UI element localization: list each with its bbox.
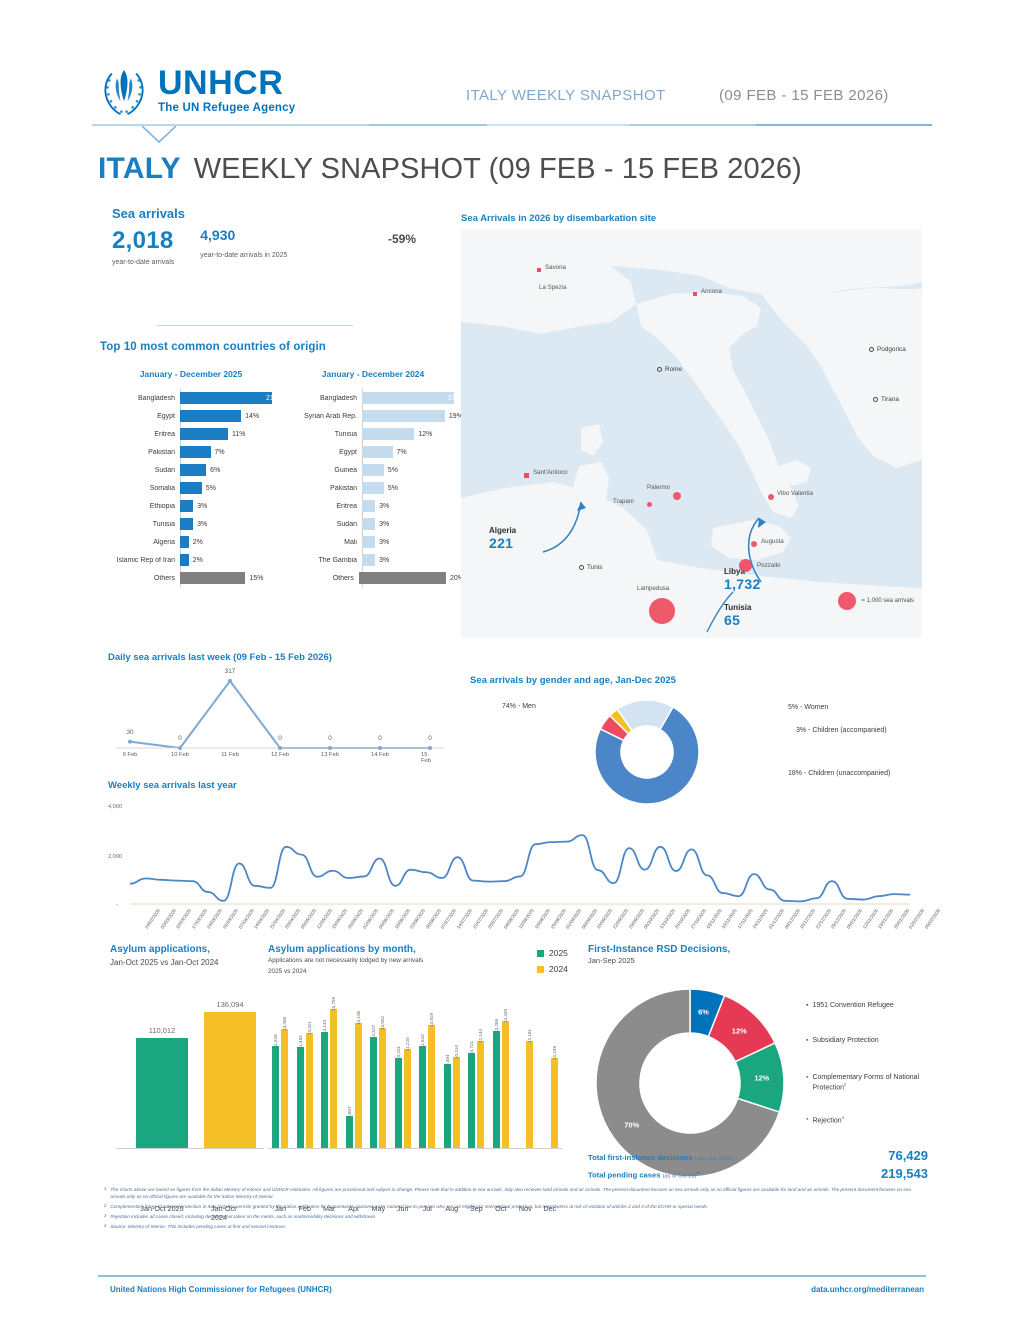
- origin-bar-value: 7%: [397, 449, 407, 456]
- legend-swatch-2024-icon: [537, 966, 544, 973]
- asylum-month-bar: [379, 1028, 386, 1148]
- total-decisions-value: 76,429: [888, 1148, 928, 1163]
- rsd-slice-percent: 70%: [624, 1121, 639, 1130]
- origin-bar-fill: [359, 572, 446, 584]
- map-site-marker-vibo-valentia[interactable]: [768, 494, 774, 500]
- footnotes: 1The charts above are based on figures f…: [104, 1186, 926, 1233]
- origin-bar-track: 3%: [180, 515, 282, 533]
- rsd-totals: Total first-instance decisions (Jan-Sep …: [588, 1148, 928, 1184]
- origin-bar-value: 5%: [388, 467, 398, 474]
- map-city-rome: Rome: [657, 366, 682, 373]
- origin-bar-track: 14%: [180, 407, 282, 425]
- asylum-month-bar: [502, 1021, 509, 1148]
- rsd-decisions-chart: First-Instance RSD Decisions, Jan-Sep 20…: [588, 944, 928, 1165]
- prev-year-arrivals: 4,930 year-to-date arrivals in 2025: [200, 227, 287, 266]
- origin-bar-row: Islamic Rep of Iran2%: [100, 551, 282, 569]
- origin-bar-fill: [362, 428, 414, 440]
- origin-bar-label: Somalia: [100, 485, 180, 492]
- asylum-month-bar: [346, 1116, 353, 1148]
- ytd-arrivals: 2,018 year-to-date arrivals: [112, 227, 174, 266]
- origin-bar-row: Eritrea3%: [282, 497, 464, 515]
- map-city-tunis: Tunis: [579, 564, 602, 571]
- origin-bar-row: Pakistan7%: [100, 443, 282, 461]
- page-title-country: ITALY: [98, 152, 181, 186]
- origin-bar-row: Mali3%: [282, 533, 464, 551]
- origin-bar-fill: [362, 464, 384, 476]
- page-title: ITALY WEEKLY SNAPSHOT (09 FEB - 15 FEB 2…: [98, 152, 802, 186]
- origin-bar-row: Guinea5%: [282, 461, 464, 479]
- gender-children-accompanied-label: 3% - Children (accompanied): [796, 727, 887, 734]
- map-site-marker-savona[interactable]: [537, 268, 541, 272]
- origin-bar-track: 7%: [362, 443, 464, 461]
- origin-bar-value: 3%: [379, 503, 389, 510]
- map-city-tirana-label: Tirana: [881, 396, 899, 403]
- asylum-month-bar: [453, 1057, 460, 1148]
- rsd-legend: ▪ 1951 Convention Refugee ▪ Subsidiary P…: [806, 1001, 936, 1125]
- asylum-monthly-chart: Asylum applications by month, Applicatio…: [268, 944, 568, 976]
- asylum-month-bar: [428, 1025, 435, 1148]
- map-city-podgorica-label: Podgorica: [877, 346, 906, 353]
- origin-bar-fill: [180, 392, 272, 404]
- asylum-month-bar: [297, 1047, 304, 1148]
- origin-bar-row: The Gambia3%: [282, 551, 464, 569]
- origin-bar-track: 3%: [362, 497, 464, 515]
- city-dot-icon: [869, 347, 874, 352]
- origin-bar-track: 6%: [180, 461, 282, 479]
- footnote-number: 1: [104, 1186, 106, 1200]
- asylum-month-bar: [526, 1041, 533, 1148]
- logo-wordmark: UNHCR: [158, 66, 295, 100]
- asylum-month-value: 11,528: [273, 1035, 278, 1049]
- asylum-month-value: 12,527: [371, 1025, 376, 1039]
- city-dot-icon: [657, 367, 662, 372]
- rsd-subtitle: Jan-Sep 2025: [588, 956, 928, 965]
- origin-bar-value: 3%: [197, 521, 207, 528]
- origin-bar-label: Others: [100, 575, 180, 582]
- asylum-totals-plot: 110,012Jan-Oct 2025136,094Jan-Oct 2024: [110, 998, 268, 1148]
- origin-bar-fill: [362, 500, 375, 512]
- origin-bar-row: Tunisia12%: [282, 425, 464, 443]
- origin-bar-track: 15%: [180, 569, 282, 587]
- daily-chart-title: Daily sea arrivals last week (09 Feb - 1…: [108, 652, 458, 663]
- rsd-slice-percent: 12%: [754, 1074, 769, 1083]
- map-site-marker-palermo[interactable]: [673, 492, 681, 500]
- daily-value-label: 30: [126, 729, 133, 736]
- map-canvas[interactable]: Algeria 221 Libya 1,732 Tunisia 65 Sa: [461, 230, 922, 638]
- daily-value-label: 0: [428, 735, 432, 742]
- daily-sea-arrivals-chart: Daily sea arrivals last week (09 Feb - 1…: [108, 652, 458, 787]
- origin-bar-fill: [362, 536, 375, 548]
- origin-bar-value: 14%: [245, 413, 259, 420]
- origin-bar-value: 3%: [197, 503, 207, 510]
- weekly-chart-plot: 24/02/202503/03/202510/03/202517/03/2025…: [130, 800, 920, 912]
- asylum-month-value: 9,494: [445, 1055, 450, 1067]
- gender-men-label: 74% - Men: [502, 703, 536, 710]
- daily-x-tick: 9 Feb: [123, 752, 138, 758]
- daily-data-point: [178, 746, 182, 750]
- daily-data-point: [328, 746, 332, 750]
- map-route-arrows: [461, 230, 922, 638]
- origin-bar-label: Eritrea: [282, 503, 362, 510]
- asylum-month-value: 13,144: [322, 1020, 327, 1034]
- origin-bar-row: Syrian Arab Rep.19%: [282, 407, 464, 425]
- asylum-monthly-legend: 2025 2024: [537, 948, 568, 980]
- asylum-month-value: 13,552: [380, 1016, 385, 1030]
- weekly-x-tick: 09/02/2026: [924, 908, 941, 930]
- weekly-sea-arrivals-chart: Weekly sea arrivals last year 4,000 2,00…: [108, 780, 928, 940]
- unhcr-logo: UNHCR The UN Refugee Agency: [98, 63, 295, 117]
- asylum-monthly-subtitle-2: 2025 vs 2024: [268, 968, 568, 977]
- sea-arrivals-kpi: Sea arrivals 2,018 year-to-date arrivals…: [112, 206, 462, 266]
- rsd-legend-label-subsidiary: Subsidiary Protection: [812, 1036, 878, 1045]
- origin-bar-label: The Gambia: [282, 557, 362, 564]
- asylum-month-bar: [395, 1058, 402, 1148]
- snapshot-page: UNHCR The UN Refugee Agency ITALY WEEKLY…: [0, 0, 1024, 1325]
- gender-chart-title: Sea arrivals by gender and age, Jan-Dec …: [470, 675, 930, 686]
- disembarkation-map-section: Sea Arrivals in 2026 by disembarkation s…: [461, 213, 922, 638]
- origin-bar-track: 5%: [362, 479, 464, 497]
- origin-bar-value: 21%: [448, 395, 462, 402]
- origin-bar-track: 7%: [180, 443, 282, 461]
- origin-bar-track: 19%: [362, 407, 464, 425]
- origin-bar-row: Ethiopia3%: [100, 497, 282, 515]
- gender-age-chart: Sea arrivals by gender and age, Jan-Dec …: [470, 675, 930, 795]
- origin-bar-track: 11%: [180, 425, 282, 443]
- map-site-label-santantioco: Sant'Antioco: [533, 469, 568, 476]
- map-site-label-trapani: Trapani: [613, 498, 634, 505]
- footnote-number: 3: [104, 1213, 106, 1220]
- map-legend-circle-icon: [838, 592, 856, 610]
- map-site-marker-augusta[interactable]: [751, 541, 757, 547]
- asylum-month-value: 13,929: [429, 1013, 434, 1027]
- asylum-month-bar: [272, 1046, 279, 1148]
- origin-bar-track: 3%: [180, 497, 282, 515]
- map-city-rome-label: Rome: [665, 366, 682, 373]
- map-site-label-augusta: Augusta: [761, 538, 784, 545]
- legend-item-2025: 2025: [537, 948, 568, 958]
- daily-value-label: 317: [225, 668, 236, 675]
- countries-of-origin-section: Top 10 most common countries of origin J…: [100, 341, 464, 587]
- gender-children-unaccompanied-label: 18% - Children (unaccompanied): [788, 770, 890, 777]
- daily-x-tick: 11 Feb: [221, 752, 239, 758]
- origin-bar-value: 6%: [210, 467, 220, 474]
- rsd-legend-label-complementary: Complementary Forms of National Protecti…: [812, 1073, 936, 1093]
- asylum-month-value: 12,161: [527, 1029, 532, 1043]
- origin-2024-header: January - December 2024: [282, 369, 464, 379]
- page-header: UNHCR The UN Refugee Agency ITALY WEEKLY…: [0, 55, 1024, 130]
- rsd-legend-label-rejection: Rejection3: [812, 1115, 843, 1125]
- header-notch-icon: [142, 126, 176, 143]
- footnote-text: Complementary forms of national protecti…: [110, 1203, 708, 1210]
- asylum-month-value: 14,136: [356, 1011, 361, 1025]
- origin-bar-label: Syrian Arab Rep.: [282, 413, 362, 420]
- gender-women-label: 5% - Women: [788, 704, 828, 711]
- city-dot-icon: [579, 565, 584, 570]
- map-site-label-vibo-valentia: Vibo Valentia: [777, 490, 813, 497]
- origin-column-2024: January - December 2024 Bangladesh21%Syr…: [282, 369, 464, 587]
- rsd-legend-dot-icon: ▪: [806, 1115, 808, 1125]
- asylum-month-value: 15,759: [331, 997, 336, 1011]
- asylum-month-value: 13,269: [494, 1019, 499, 1033]
- origin-bar-track: 21%: [180, 389, 282, 407]
- footnote-text: Rejection includes all cases closed, inc…: [110, 1213, 376, 1220]
- origin-bar-label: Islamic Rep of Iran: [100, 557, 180, 564]
- asylum-month-bar: [306, 1033, 313, 1148]
- total-pending-label: Total pending cases (as of Oct 25)4: [588, 1170, 699, 1180]
- origin-bar-label: Bangladesh: [100, 395, 180, 402]
- daily-x-tick: 14 Feb: [371, 752, 389, 758]
- origin-bar-label: Mali: [282, 539, 362, 546]
- prev-year-value: 4,930: [200, 227, 287, 243]
- asylum-month-value: 10,310: [454, 1045, 459, 1059]
- legend-label-2024: 2024: [549, 964, 568, 974]
- origin-2025-header: January - December 2025: [100, 369, 282, 379]
- asylum-month-bar: [551, 1058, 558, 1148]
- map-site-marker-pozzallo[interactable]: [739, 559, 752, 572]
- weekly-chart-title: Weekly sea arrivals last year: [108, 780, 928, 791]
- origin-bar-row: Eritrea11%: [100, 425, 282, 443]
- rsd-legend-item-rejection: ▪ Rejection3: [806, 1115, 936, 1125]
- origin-bar-row: Bangladesh21%: [282, 389, 464, 407]
- origin-bar-row: Egypt7%: [282, 443, 464, 461]
- legend-label-2025: 2025: [549, 948, 568, 958]
- origin-bar-track: 3%: [362, 515, 464, 533]
- asylum-month-bar: [370, 1037, 377, 1148]
- daily-value-label: 0: [178, 735, 182, 742]
- asylum-month-bar: [493, 1031, 500, 1148]
- map-site-label-ancona: Ancona: [701, 288, 722, 295]
- origin-bar-track: 5%: [362, 461, 464, 479]
- asylum-totals-title: Asylum applications,: [110, 944, 268, 957]
- asylum-month-value: 11,610: [420, 1034, 425, 1048]
- asylum-month-bar: [281, 1029, 288, 1148]
- page-title-rest: WEEKLY SNAPSHOT (09 FEB - 15 FEB 2026): [194, 153, 802, 186]
- origin-bar-track: 5%: [180, 479, 282, 497]
- origin-bar-value: 5%: [206, 485, 216, 492]
- asylum-total-bar: [136, 1038, 188, 1148]
- asylum-total-value: 136,094: [216, 1000, 243, 1009]
- rsd-title: First-Instance RSD Decisions,: [588, 944, 928, 955]
- map-city-tirana: Tirana: [873, 396, 899, 403]
- total-pending-value: 219,543: [881, 1166, 928, 1181]
- daily-line-graphic: [108, 670, 448, 765]
- rsd-legend-item-1951: ▪ 1951 Convention Refugee: [806, 1001, 936, 1010]
- origin-bar-label: Bangladesh: [282, 395, 362, 402]
- map-site-marker-santantioco[interactable]: [524, 473, 529, 478]
- asylum-month-bar: [321, 1032, 328, 1148]
- origin-bar-label: Egypt: [100, 413, 180, 420]
- origin-bar-row: Others15%: [100, 569, 282, 587]
- footnote-item: 3Rejection includes all cases closed, in…: [104, 1213, 926, 1220]
- footnote-number: 4: [104, 1223, 106, 1230]
- asylum-month-value: 11,220: [405, 1037, 410, 1051]
- origin-bar-fill: [362, 482, 384, 494]
- total-pending-row: Total pending cases (as of Oct 25)4 219,…: [588, 1166, 928, 1181]
- total-decisions-row: Total first-instance decisions (Jan-Sep …: [588, 1148, 928, 1163]
- daily-data-point: [228, 679, 232, 683]
- origin-bar-label: Egypt: [282, 449, 362, 456]
- sea-arrivals-title: Sea arrivals: [112, 206, 462, 221]
- rsd-slice-percent: 6%: [698, 1008, 709, 1017]
- map-site-label-savona: Savona: [545, 264, 566, 271]
- origin-bar-value: 7%: [215, 449, 225, 456]
- asylum-monthly-plot: 11,52813,456Jan11,48413,021Feb13,14415,7…: [268, 998, 562, 1148]
- asylum-month-value: 11,484: [298, 1035, 303, 1049]
- header-date-range: (09 FEB - 15 FEB 2026): [719, 87, 889, 104]
- footnote-item: 4Source: Ministry of Interior. This incl…: [104, 1223, 926, 1230]
- ytd-arrivals-value: 2,018: [112, 227, 174, 255]
- city-dot-icon: [873, 397, 878, 402]
- asylum-month-bar: [477, 1041, 484, 1148]
- daily-x-tick: 12 Feb: [271, 752, 289, 758]
- footnote-text: Source: Ministry of Interior. This inclu…: [110, 1223, 286, 1230]
- origin-bar-fill: [180, 482, 202, 494]
- asylum-month-value: 10,201: [396, 1046, 401, 1060]
- origin-bar-fill: [362, 446, 393, 458]
- ytd-arrivals-label: year-to-date arrivals: [112, 259, 174, 266]
- map-site-marker-lampedusa[interactable]: [649, 598, 675, 624]
- asylum-month-bar: [330, 1009, 337, 1148]
- origin-bar-row: Sudan3%: [282, 515, 464, 533]
- rsd-slice-percent: 12%: [732, 1026, 747, 1035]
- origin-bar-label: Pakistan: [100, 449, 180, 456]
- origin-bar-fill: [180, 446, 211, 458]
- origin-bar-track: 3%: [362, 551, 464, 569]
- rsd-legend-dot-icon: ▪: [806, 1073, 808, 1093]
- origin-bar-fill: [362, 392, 454, 404]
- origin-bar-fill: [180, 572, 245, 584]
- map-city-tunis-label: Tunis: [587, 564, 602, 571]
- daily-data-point: [428, 746, 432, 750]
- origin-bar-label: Others: [282, 575, 359, 582]
- origin-bar-label: Eritrea: [100, 431, 180, 438]
- origin-bar-label: Guinea: [282, 467, 362, 474]
- map-site-label-palermo: Palermo: [647, 484, 670, 491]
- map-title: Sea Arrivals in 2026 by disembarkation s…: [461, 213, 656, 224]
- origin-bar-value: 21%: [266, 395, 280, 402]
- asylum-month-bar: [444, 1064, 451, 1148]
- map-legend: = 1,000 sea arrivals: [838, 592, 914, 610]
- asylum-total-value: 110,012: [149, 1026, 176, 1035]
- origin-column-2025: January - December 2025 Bangladesh21%Egy…: [100, 369, 282, 587]
- origin-bar-fill: [362, 554, 375, 566]
- map-site-label-la-spezia: La Spezia: [539, 284, 567, 291]
- asylum-month-bar: [355, 1023, 362, 1148]
- asylum-month-bar: [468, 1053, 475, 1148]
- sea-arrivals-change: -59%: [388, 232, 416, 246]
- daily-value-label: 0: [378, 735, 382, 742]
- origin-bar-label: Ethiopia: [100, 503, 180, 510]
- origin-bar-value: 2%: [193, 539, 203, 546]
- map-legend-label: = 1,000 sea arrivals: [861, 598, 914, 604]
- rsd-legend-dot-icon: ▪: [806, 1036, 808, 1045]
- footnote-number: 2: [104, 1203, 106, 1210]
- rsd-legend-item-subsidiary: ▪ Subsidiary Protection: [806, 1036, 936, 1045]
- asylum-monthly-title: Asylum applications by month,: [268, 944, 568, 955]
- asylum-month-value: 12,144: [478, 1029, 483, 1043]
- legend-swatch-2025-icon: [537, 950, 544, 957]
- origin-bar-fill: [180, 518, 193, 530]
- asylum-total-axis: [116, 1148, 264, 1149]
- origin-bar-row: Somalia5%: [100, 479, 282, 497]
- origin-bar-label: Algeria: [100, 539, 180, 546]
- origin-bar-track: 12%: [362, 425, 464, 443]
- footer-left-text: United Nations High Commissioner for Ref…: [110, 1285, 332, 1294]
- rsd-legend-dot-icon: ▪: [806, 1001, 808, 1010]
- footnote-text: The charts above are based on figures fr…: [110, 1186, 926, 1200]
- header-title: ITALY WEEKLY SNAPSHOT: [466, 87, 666, 104]
- weekly-ytick-4000: 4,000: [108, 804, 122, 810]
- asylum-month-bar: [419, 1046, 426, 1148]
- origin-bar-fill: [180, 464, 206, 476]
- origin-title: Top 10 most common countries of origin: [100, 341, 464, 353]
- asylum-month-value: 10,721: [469, 1041, 474, 1055]
- total-decisions-label: Total first-instance decisions (Jan-Sep …: [588, 1153, 733, 1162]
- origin-bar-label: Sudan: [282, 521, 362, 528]
- origin-bar-row: Egypt14%: [100, 407, 282, 425]
- origin-bar-value: 3%: [379, 521, 389, 528]
- footnote-item: 1The charts above are based on figures f…: [104, 1186, 926, 1200]
- logo-tagline: The UN Refugee Agency: [158, 103, 295, 115]
- rsd-legend-label-1951: 1951 Convention Refugee: [812, 1001, 893, 1010]
- asylum-month-value: 14,449: [503, 1008, 508, 1022]
- origin-bar-value: 15%: [249, 575, 263, 582]
- legend-item-2024: 2024: [537, 964, 568, 974]
- origin-bar-row: Tunisia3%: [100, 515, 282, 533]
- footer-link[interactable]: data.unhcr.org/mediterranean: [811, 1285, 924, 1294]
- origin-bar-value: 2%: [193, 557, 203, 564]
- origin-bar-value: 5%: [388, 485, 398, 492]
- weekly-line-graphic: [130, 800, 920, 908]
- origin-bar-label: Tunisia: [100, 521, 180, 528]
- origin-bar-track: 20%: [359, 569, 464, 587]
- map-city-podgorica: Podgorica: [869, 346, 906, 353]
- daily-x-tick: 15 Feb: [421, 752, 439, 764]
- asylum-month-axis: [268, 1148, 562, 1149]
- unhcr-emblem-icon: [98, 63, 150, 117]
- origin-bar-row: Algeria2%: [100, 533, 282, 551]
- asylum-month-value: 10,249: [552, 1046, 557, 1060]
- origin-bar-fill: [362, 410, 445, 422]
- origin-bar-track: 2%: [180, 551, 282, 569]
- daily-data-point: [278, 746, 282, 750]
- origin-bar-fill: [180, 500, 193, 512]
- origin-bar-label: Pakistan: [282, 485, 362, 492]
- map-site-marker-trapani[interactable]: [647, 502, 652, 507]
- daily-data-point: [378, 746, 382, 750]
- daily-x-tick: 13 Feb: [321, 752, 339, 758]
- weekly-ytick-0: -: [116, 902, 118, 908]
- map-site-label-lampedusa: Lampedusa: [637, 585, 669, 592]
- weekly-ytick-2000: 2,000: [108, 854, 122, 860]
- origin-bar-track: 21%: [362, 389, 464, 407]
- asylum-monthly-subtitle-1: Applications are not necessarily lodged …: [268, 957, 568, 966]
- origin-bar-row: Sudan6%: [100, 461, 282, 479]
- origin-bar-row: Pakistan5%: [282, 479, 464, 497]
- origin-bar-label: Sudan: [100, 467, 180, 474]
- origin-bar-value: 12%: [418, 431, 432, 438]
- map-site-label-pozzallo: Pozzallo: [757, 562, 780, 569]
- asylum-month-value: 13,456: [282, 1017, 287, 1031]
- origin-bar-fill: [180, 428, 228, 440]
- footnote-item: 2Complementary forms of national protect…: [104, 1203, 926, 1210]
- asylum-month-value: 3,657: [347, 1106, 352, 1118]
- map-site-marker-ancona[interactable]: [693, 292, 697, 296]
- kpi-separator: [157, 325, 353, 326]
- origin-bar-value: 3%: [379, 557, 389, 564]
- daily-x-tick: 10 Feb: [171, 752, 189, 758]
- daily-value-label: 0: [328, 735, 332, 742]
